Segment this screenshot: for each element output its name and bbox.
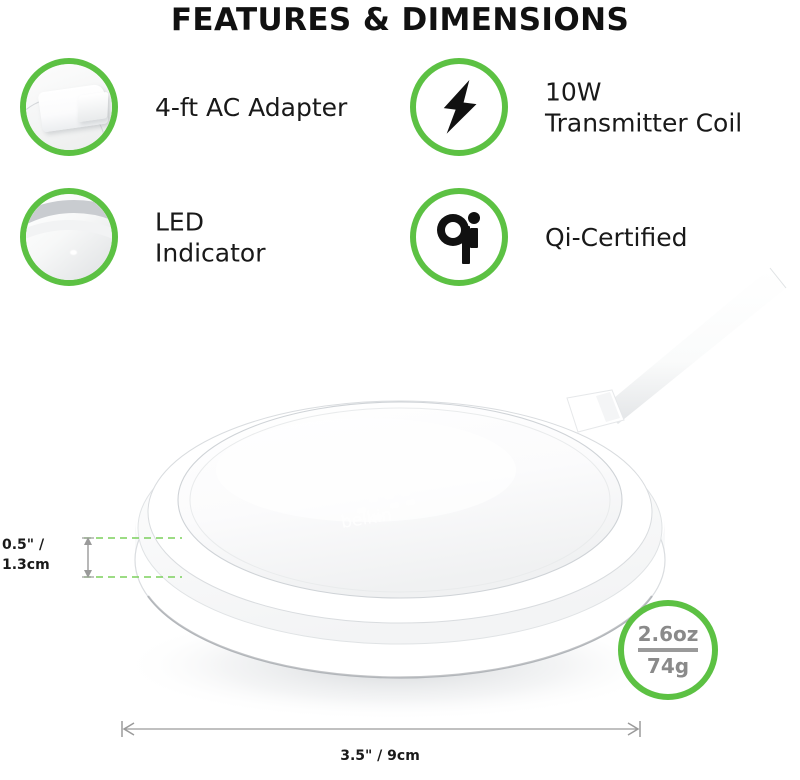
feature-transmitter-coil: 10W Transmitter Coil [410,58,790,158]
weight-divider [638,648,698,652]
weight-imperial: 2.6oz [638,623,699,645]
feature-label-ac-adapter: 4-ft AC Adapter [155,93,347,124]
belkin-wordmark: belkin [340,505,394,533]
feature-led-indicator: LED Indicator [20,188,380,288]
ac-adapter-photo-icon [20,58,118,156]
width-dimension-graphic [118,718,644,740]
feature-ac-adapter: 4-ft AC Adapter [20,58,380,158]
infographic-page: FEATURES & DIMENSIONS 4-ft AC Adapter 10… [0,0,800,780]
feature-qi-certified: Qi-Certified [410,188,790,288]
led-closeup-photo-icon [20,188,118,286]
page-title: FEATURES & DIMENSIONS [0,2,800,38]
lightning-bolt-icon [416,64,502,150]
weight-metric: 74g [647,655,689,677]
weight-badge: 2.6oz 74g [618,600,718,700]
width-dimension-label: 3.5" / 9cm [0,748,760,764]
feature-label-transmitter-coil: 10W Transmitter Coil [545,78,742,139]
qi-logo-icon [416,194,502,280]
height-dimension-label: 0.5" / 1.3cm [2,535,50,576]
lightning-bolt-badge [410,58,508,156]
feature-label-qi-certified: Qi-Certified [545,223,688,254]
qi-logo-badge [410,188,508,286]
feature-label-led-indicator: LED Indicator [155,208,265,269]
height-dimension-graphic [70,525,190,595]
